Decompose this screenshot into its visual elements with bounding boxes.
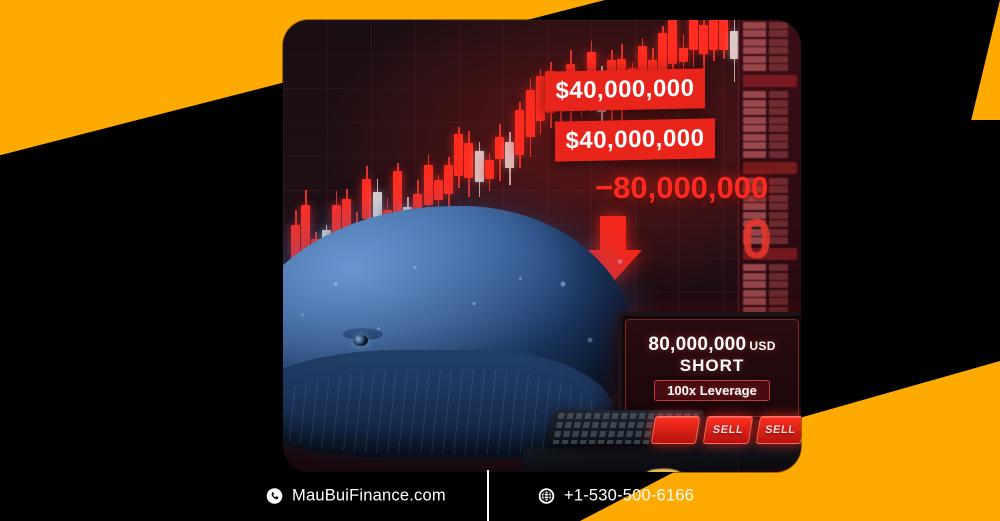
trading-monitor: 80,000,000USD SHORT 100x Leverage	[618, 312, 801, 424]
order-book-row	[743, 142, 797, 149]
order-book-row	[743, 22, 797, 29]
phone-icon	[266, 487, 283, 504]
poster-canvas: 0 $40,000,000 $40,000,000 −80,000,000	[0, 0, 1000, 521]
order-book-row	[743, 47, 797, 54]
order-book-band	[743, 75, 797, 87]
order-book-row	[743, 100, 797, 107]
monitor-currency: USD	[749, 339, 775, 353]
order-book-row	[743, 273, 797, 280]
sell-button-2[interactable]: SELL	[755, 416, 801, 444]
monitor-position-side: SHORT	[680, 357, 745, 374]
order-book-zero-glyph: 0	[741, 216, 772, 262]
monitor-screen: 80,000,000USD SHORT 100x Leverage	[625, 319, 799, 417]
hero-image: 0 $40,000,000 $40,000,000 −80,000,000	[283, 20, 801, 472]
order-button-row: SELL SELL	[651, 416, 801, 444]
order-book-row	[743, 134, 797, 141]
whale-eye	[353, 335, 368, 346]
footer-website-label: MauBuiFinance.com	[292, 486, 446, 505]
order-book-row	[743, 39, 797, 46]
price-tag-1: $40,000,000	[545, 68, 705, 111]
order-book-row	[743, 56, 797, 63]
order-book-row	[743, 64, 797, 71]
footer-phone-label: +1-530-500-6166	[564, 486, 694, 505]
order-book-row	[743, 91, 797, 98]
order-book-row	[743, 290, 797, 297]
globe-icon	[538, 487, 555, 504]
order-book-row	[743, 30, 797, 37]
monitor-amount-value: 80,000,000	[648, 334, 746, 355]
order-button-1[interactable]	[651, 416, 701, 444]
order-book-row	[743, 281, 797, 288]
footer-contact-bar: MauBuiFinance.com +1-530-500-6166	[0, 470, 1000, 521]
footer-website[interactable]: MauBuiFinance.com	[266, 486, 446, 505]
order-book-row	[743, 151, 797, 158]
sell-button-1[interactable]: SELL	[703, 416, 753, 444]
footer-divider	[487, 470, 489, 521]
order-book-row	[743, 108, 797, 115]
monitor-leverage-badge: 100x Leverage	[654, 380, 770, 401]
footer-phone[interactable]: +1-530-500-6166	[538, 486, 694, 505]
order-book-row	[743, 298, 797, 305]
order-book-row	[743, 117, 797, 124]
order-book-row	[743, 125, 797, 132]
price-tag-1-label: $40,000,000	[556, 75, 695, 106]
monitor-amount: 80,000,000USD	[648, 335, 775, 354]
